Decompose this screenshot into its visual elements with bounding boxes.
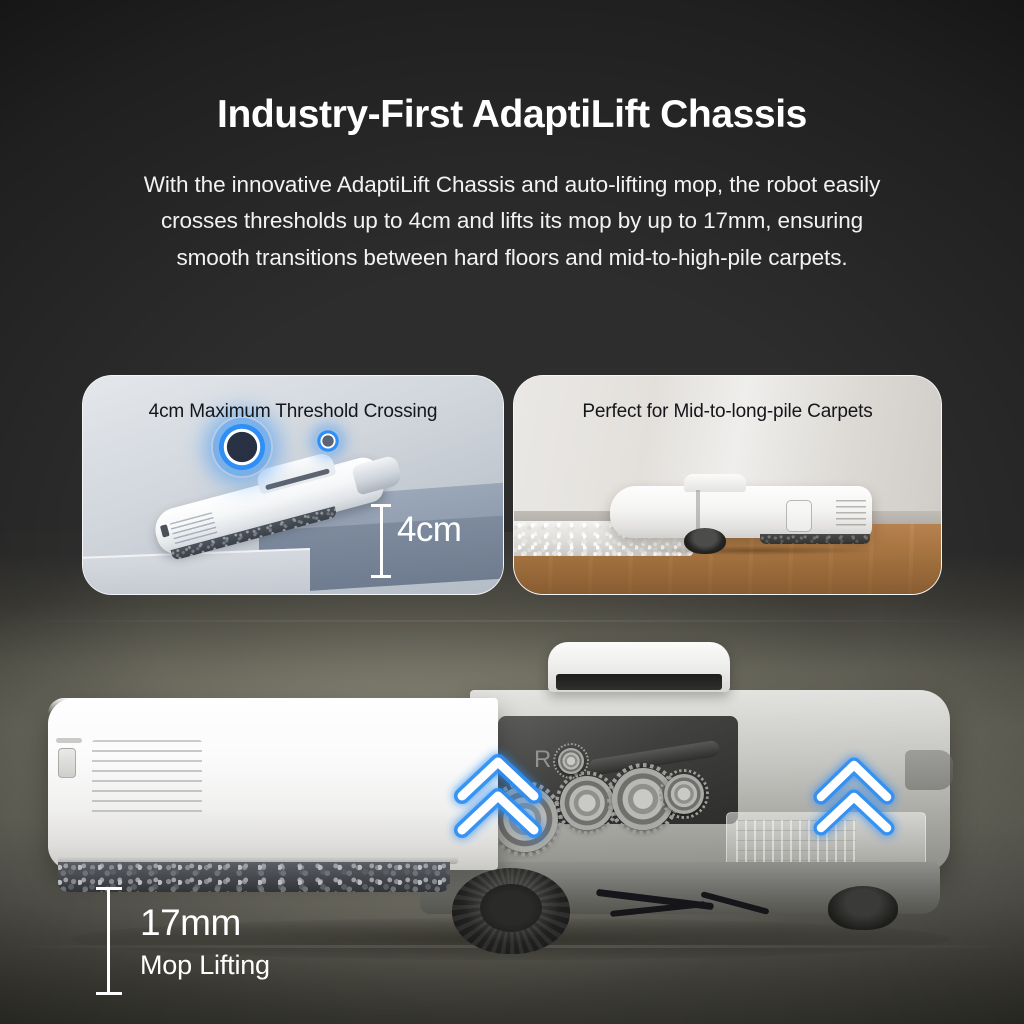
threshold-dimension-callout: 4cm	[371, 500, 491, 582]
hero-port-slot	[56, 738, 82, 743]
hero-rear-caster	[828, 886, 898, 930]
robot-side-panel	[786, 500, 812, 532]
description-line-2: crosses thresholds up to 4cm and lifts i…	[47, 203, 977, 239]
robot-lidar-turret	[684, 474, 746, 492]
hero-vent-slots	[92, 740, 202, 816]
header-block: Industry-First AdaptiLift Chassis With t…	[0, 0, 1024, 276]
hero-body-highlight	[48, 698, 498, 714]
robot-vent-grille	[836, 500, 866, 526]
page-description: With the innovative AdaptiLift Chassis a…	[47, 167, 977, 276]
gear-wheel-small	[664, 774, 704, 814]
robot-brush-strip	[760, 534, 870, 544]
feature-card-row: 4cm Maximum Threshold Crossing 4cm	[82, 375, 942, 595]
caster-glow-highlight-icon	[315, 428, 341, 454]
chassis-rear-notch	[905, 750, 953, 790]
description-line-3: smooth transitions between hard floors a…	[47, 240, 977, 276]
gear-wheel-pinion	[558, 748, 584, 774]
hero-lidar-window	[556, 674, 722, 690]
robot-shadow	[640, 546, 870, 555]
feature-card-carpet-clearance[interactable]: Perfect for Mid-to-long-pile Carpets	[513, 375, 942, 595]
gear-wheel-mid	[560, 776, 614, 830]
hero-side-port	[58, 748, 76, 778]
wheel-glow-highlight-icon	[211, 416, 273, 478]
dimension-label: Mop Lifting	[140, 952, 270, 979]
page-title: Industry-First AdaptiLift Chassis	[0, 94, 1024, 137]
lift-arrow-chevron-left-icon	[452, 752, 544, 838]
robot-body	[610, 486, 872, 538]
lift-arrow-chevron-right-icon	[812, 756, 896, 836]
card-title-carpet: Perfect for Mid-to-long-pile Carpets	[514, 401, 941, 423]
hero-drive-wheel-hub	[480, 884, 542, 932]
dimension-cap-bottom	[371, 575, 391, 578]
dimension-line	[380, 504, 383, 578]
feature-card-threshold-crossing[interactable]: 4cm Maximum Threshold Crossing 4cm	[82, 375, 504, 595]
product-feature-page: Industry-First AdaptiLift Chassis With t…	[0, 0, 1024, 1024]
robot-drive-wheel	[684, 528, 726, 554]
card-title-threshold: 4cm Maximum Threshold Crossing	[83, 401, 503, 423]
dimension-line	[107, 887, 110, 995]
dimension-value: 17mm	[140, 904, 241, 941]
dimension-value: 4cm	[397, 512, 461, 547]
description-line-1: With the innovative AdaptiLift Chassis a…	[47, 167, 977, 203]
dimension-cap-bottom	[96, 992, 122, 995]
mop-lifting-dimension-callout: 17mm Mop Lifting	[96, 884, 396, 1006]
robot-vacuum-on-carpet	[610, 474, 872, 554]
